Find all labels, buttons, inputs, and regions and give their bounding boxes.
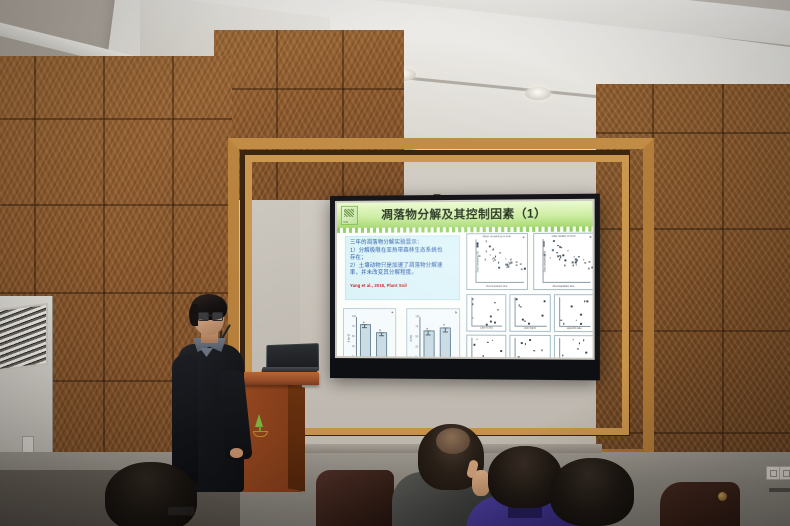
scatter-point: [472, 299, 474, 301]
scatter-panel-b-title: Litter quality vs time: [534, 235, 593, 238]
scatter-point: [542, 315, 544, 317]
scatter-point: [489, 246, 491, 248]
scatter-panel-a-title: Mass remaining vs time: [467, 235, 526, 238]
error-bar: [445, 327, 446, 331]
scatter-point: [534, 350, 536, 352]
scatter-point: [588, 268, 590, 270]
scatter-point: [560, 319, 562, 321]
significance-letter: b: [379, 328, 381, 332]
scatter-point: [564, 260, 566, 262]
scatter-point: [485, 251, 487, 253]
significance-letter: a: [363, 320, 365, 324]
glasses-icon: [167, 506, 195, 516]
scatter-point: [584, 262, 586, 264]
presentation-slide: IAE 凋落物分解及其控制因素（1） 三年的凋落物分解实验显示： 1）分解极限在…: [337, 201, 593, 358]
y-tick-label: 50: [415, 336, 418, 339]
scatter-point: [516, 264, 518, 266]
scatter-point: [563, 255, 565, 257]
scatter-point: [591, 267, 593, 269]
slide-header: IAE 凋落物分解及其控制因素（1）: [337, 201, 593, 230]
audience-member-4: [95, 462, 215, 526]
y-tick-label: 75: [352, 325, 355, 328]
scatter-panel-a: Mass remaining vs time a Mass remaining …: [466, 233, 527, 290]
scatter-point: [498, 262, 500, 264]
significance-letter: a: [443, 323, 445, 327]
mini-panel: Litter N (%): [466, 294, 506, 331]
chair-knob: [718, 492, 727, 501]
scatter-point: [580, 323, 582, 325]
mini-panel: Litter P (%): [466, 334, 506, 358]
presenter-hand: [230, 448, 243, 458]
slide-textbox: 三年的凋落物分解实验显示： 1）分解极限在亚热带森林生态系统也 存在； 2）土壤…: [345, 235, 460, 300]
scatter-point: [563, 323, 565, 325]
scatter-point: [516, 261, 518, 263]
mini-panel-xlabel: Litter lignin: [511, 326, 550, 329]
scatter-point: [510, 259, 512, 261]
scatter-point: [557, 255, 559, 257]
scatter-point: [589, 261, 591, 263]
significance-letter: a: [426, 326, 428, 330]
scatter-point: [522, 318, 524, 320]
chair-right: [660, 482, 740, 526]
scatter-point: [550, 257, 552, 259]
bar-chart-a-ylabel: k (yr-1): [348, 334, 351, 342]
error-bar: [381, 332, 382, 335]
air-vent-grille-icon: [0, 303, 48, 371]
screen-bottom-bar: [330, 358, 600, 380]
y-tick-label: 75: [415, 326, 418, 329]
scatter-point: [556, 252, 558, 254]
scatter-panel-b-tag: b: [590, 235, 592, 239]
scatter-point: [477, 243, 479, 245]
scatter-point: [543, 241, 545, 243]
scatter-point: [494, 259, 496, 261]
bar-chart-b-ylabel: A (%): [410, 335, 413, 341]
scatter-point: [524, 320, 526, 322]
scatter-point: [498, 267, 500, 269]
y-tick-label: 100: [415, 315, 419, 318]
scatter-point: [560, 256, 562, 258]
scatter-point: [572, 262, 574, 264]
bar: [360, 324, 371, 357]
scatter-point: [583, 259, 585, 261]
y-tick-label: 0: [352, 355, 353, 357]
scatter-point: [520, 263, 522, 265]
presenter-hair-side: [189, 304, 198, 326]
mini-scatter-grid: Litter N (%) Litter lignin Lignin/N rati…: [466, 294, 592, 358]
scatter-point: [487, 341, 489, 343]
mini-panel: Lignin/N ratio: [554, 294, 593, 331]
glasses-icon: [198, 312, 222, 319]
mini-panel: C/N ratio: [510, 334, 551, 357]
slide-citation: Yang et al., 2018, Plant Soil: [350, 283, 455, 288]
y-tick-label: 100: [352, 315, 356, 318]
scatter-point: [521, 342, 523, 344]
scatter-panel-a-ylabel: Mass remaining (%): [477, 251, 480, 273]
scatter-point: [576, 320, 578, 322]
scatter-point: [492, 249, 494, 251]
scatter-point: [584, 301, 586, 303]
scatter-point: [485, 240, 487, 242]
scatter-point: [508, 266, 510, 268]
scatter-point: [576, 260, 578, 262]
bar: [440, 327, 451, 357]
scatter-point: [575, 264, 577, 266]
scatter-point: [528, 323, 530, 325]
scatter-point: [567, 250, 569, 252]
y-tick-label: 25: [415, 346, 418, 349]
scatter-panel-a-tag: a: [523, 235, 525, 239]
scatter-panel-a-xlabel: Decomposition time: [467, 285, 526, 288]
scatter-point: [494, 322, 496, 324]
scatter-point: [472, 317, 474, 319]
y-tick-label: 50: [352, 335, 355, 338]
scatter-point: [494, 302, 496, 304]
scatter-point: [572, 265, 574, 267]
floor-vent-icon: [769, 488, 790, 492]
mini-panel-xlabel: Litter N (%): [467, 326, 505, 329]
bar: [376, 332, 387, 357]
scatter-point: [506, 264, 508, 266]
projection-screen: IAE 凋落物分解及其控制因素（1） 三年的凋落物分解实验显示： 1）分解极限在…: [330, 194, 600, 381]
presentation-room-photo: IAE 凋落物分解及其控制因素（1） 三年的凋落物分解实验显示： 1）分解极限在…: [0, 0, 790, 526]
slide-text-line: 率，并未改变其分解程度。: [350, 270, 455, 278]
scatter-point: [559, 258, 561, 260]
scatter-point: [578, 256, 580, 258]
scatter-point: [559, 247, 561, 249]
scatter-point: [477, 246, 479, 248]
bar-chart-a: a k (yr-1) aMesh+bMesh-0255075100: [343, 308, 396, 358]
scatter-point: [562, 355, 564, 357]
slide-body: 三年的凋落物分解实验显示： 1）分解极限在亚热带森林生态系统也 存在； 2）土壤…: [337, 229, 593, 358]
scatter-point: [495, 256, 497, 258]
scatter-point: [572, 339, 574, 341]
scatter-point: [516, 298, 518, 300]
scatter-point: [553, 240, 555, 242]
scatter-point: [500, 350, 502, 352]
scatter-point: [543, 245, 545, 247]
error-bar: [428, 331, 429, 335]
mini-panel: Litter lignin: [510, 294, 551, 331]
bar-chart-row: a k (yr-1) aMesh+bMesh-0255075100 b A (%…: [343, 308, 460, 358]
chair-left: [316, 470, 394, 526]
downlight-icon: [525, 87, 551, 100]
scatter-point: [510, 262, 512, 264]
scatter-point: [579, 343, 581, 345]
scatter-point: [524, 268, 526, 270]
screen-surface: IAE 凋落物分解及其控制因素（1） 三年的凋落物分解实验显示： 1）分解极限在…: [335, 199, 595, 360]
bar-chart-a-tag: a: [391, 310, 393, 314]
podium-side-panel: [288, 384, 305, 491]
scatter-point: [520, 306, 522, 308]
scatter-point: [541, 349, 543, 351]
wall-socket[interactable]: [766, 466, 780, 480]
scatter-point: [580, 314, 582, 316]
scatter-point: [484, 259, 486, 261]
scatter-point: [490, 254, 492, 256]
wall-socket[interactable]: [779, 466, 790, 480]
bar-chart-b-tag: b: [455, 310, 457, 314]
scatter-point: [586, 352, 588, 354]
scatter-point: [490, 316, 492, 318]
scatter-point: [577, 348, 579, 350]
y-tick-label: 25: [352, 345, 355, 348]
mini-panel: Litter C (%): [554, 335, 593, 358]
scatter-point: [497, 309, 499, 311]
laptop-base[interactable]: [261, 367, 318, 372]
scatter-point: [476, 338, 478, 340]
scatter-point: [529, 339, 531, 341]
scatter-point: [583, 340, 585, 342]
scatter-point: [521, 269, 523, 271]
error-bar: [364, 324, 365, 328]
scatter-point: [573, 256, 575, 258]
scatter-point: [491, 340, 493, 342]
scatter-point: [552, 250, 554, 252]
scatter-point: [571, 306, 573, 308]
slide-title: 凋落物分解及其控制因素（1）: [337, 205, 593, 223]
scatter-panel-row: Mass remaining vs time a Mass remaining …: [466, 233, 592, 290]
scatter-point: [586, 300, 588, 302]
scatter-point: [564, 265, 566, 267]
audience-member-3: [540, 458, 642, 526]
scatter-point: [490, 321, 492, 323]
scatter-point: [525, 343, 527, 345]
scatter-point: [483, 355, 485, 357]
scatter-point: [544, 300, 546, 302]
scatter-point: [499, 252, 501, 254]
mini-panel-xlabel: Lignin/N ratio: [555, 326, 593, 329]
scatter-point: [473, 344, 475, 346]
scatter-point: [505, 258, 507, 260]
scatter-point: [492, 258, 494, 260]
scatter-panel-b: Litter quality vs time b Mass remaining …: [533, 233, 593, 290]
scatter-point: [518, 356, 520, 357]
scatter-panel-b-xlabel: Decomposition time: [534, 285, 593, 288]
y-tick-label: 0: [415, 356, 416, 358]
bar-chart-b: b A (%) aMesh+aMesh-0255075100: [406, 308, 460, 358]
